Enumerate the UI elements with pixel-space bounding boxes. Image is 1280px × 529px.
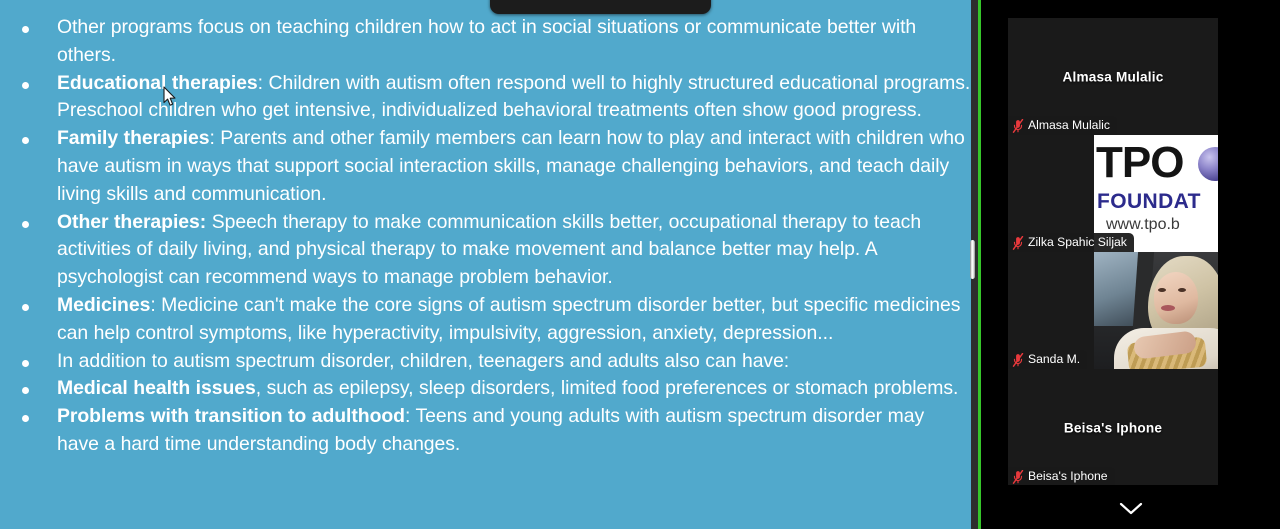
- panel-resize-handle[interactable]: [970, 240, 975, 279]
- participant-tile[interactable]: TPO FOUNDAT www.tpo.b Zilka Spahic Silja…: [1008, 135, 1218, 252]
- slide-bullet-lead: Other therapies:: [57, 211, 206, 233]
- participant-camera-image: [1094, 252, 1218, 369]
- slide-bullet-lead: Educational therapies: [57, 72, 258, 94]
- slide-bullet: Educational therapies: Children with aut…: [0, 70, 971, 126]
- participant-tile[interactable]: Beisa's Iphone Beisa's Iphone: [1008, 369, 1218, 485]
- participant-badge-label: Sanda M.: [1028, 350, 1080, 369]
- mic-muted-icon: [1012, 119, 1024, 133]
- participant-name-badge: Sanda M.: [1008, 350, 1087, 369]
- chevron-down-icon: [1118, 501, 1144, 516]
- slide-bullet-text: , such as epilepsy, sleep disorders, lim…: [256, 377, 959, 399]
- mic-muted-icon: [1012, 470, 1024, 484]
- tpo-logo-line-2: FOUNDAT: [1097, 191, 1201, 212]
- tpo-logo-sphere-icon: [1198, 147, 1218, 181]
- slide-bullet-lead: Medical health issues: [57, 377, 256, 399]
- slide-bullet: Other programs focus on teaching childre…: [0, 14, 971, 70]
- participant-badge-label: Zilka Spahic Siljak: [1028, 233, 1127, 252]
- mic-muted-icon: [1012, 236, 1024, 250]
- participant-badge-label: Beisa's Iphone: [1028, 467, 1108, 485]
- slide-bullet: Problems with transition to adulthood: T…: [0, 403, 971, 459]
- meeting-controls-pill[interactable]: [490, 0, 711, 14]
- slide-bullet-lead: Problems with transition to adulthood: [57, 405, 405, 427]
- mic-muted-icon: [1012, 353, 1024, 367]
- slide-bullet: Medical health issues, such as epilepsy,…: [0, 375, 971, 403]
- slide-bullet: Other therapies: Speech therapy to make …: [0, 209, 971, 292]
- participant-video: [1094, 252, 1218, 369]
- filmstrip-scroll-down-button[interactable]: [981, 495, 1280, 521]
- participants-filmstrip: Almasa Mulalic Almasa Mulalic TPO: [981, 0, 1280, 529]
- slide-bullet-lead: Medicines: [57, 294, 150, 316]
- tpo-logo-line-1: TPO: [1096, 141, 1183, 185]
- screen-share-region: Other programs focus on teaching childre…: [0, 0, 981, 529]
- participant-tiles: Almasa Mulalic Almasa Mulalic TPO: [1008, 18, 1218, 485]
- slide-bullet-text: Other programs focus on teaching childre…: [57, 16, 916, 66]
- participant-tile[interactable]: Sanda M.: [1008, 252, 1218, 369]
- slide-bullet-list: Other programs focus on teaching childre…: [0, 14, 971, 459]
- participant-badge-label: Almasa Mulalic: [1028, 116, 1110, 135]
- participant-name-badge: Almasa Mulalic: [1008, 116, 1117, 135]
- participant-display-name: Almasa Mulalic: [1008, 69, 1218, 84]
- participant-display-name: Beisa's Iphone: [1008, 420, 1218, 435]
- shared-slide: Other programs focus on teaching childre…: [0, 0, 971, 529]
- tpo-logo-line-3: www.tpo.b: [1106, 217, 1180, 233]
- slide-bullet: Medicines: Medicine can't make the core …: [0, 292, 971, 348]
- slide-bullet: In addition to autism spectrum disorder,…: [0, 348, 971, 376]
- meeting-stage: Other programs focus on teaching childre…: [0, 0, 1280, 529]
- participant-name-badge: Beisa's Iphone: [1008, 467, 1115, 485]
- slide-bullet-text: In addition to autism spectrum disorder,…: [57, 350, 789, 372]
- slide-bullet-text: : Medicine can't make the core signs of …: [57, 294, 960, 344]
- participant-tile[interactable]: Almasa Mulalic Almasa Mulalic: [1008, 18, 1218, 135]
- slide-bullet-lead: Family therapies: [57, 127, 209, 149]
- participant-name-badge: Zilka Spahic Siljak: [1008, 233, 1134, 252]
- slide-bullet: Family therapies: Parents and other fami…: [0, 125, 971, 208]
